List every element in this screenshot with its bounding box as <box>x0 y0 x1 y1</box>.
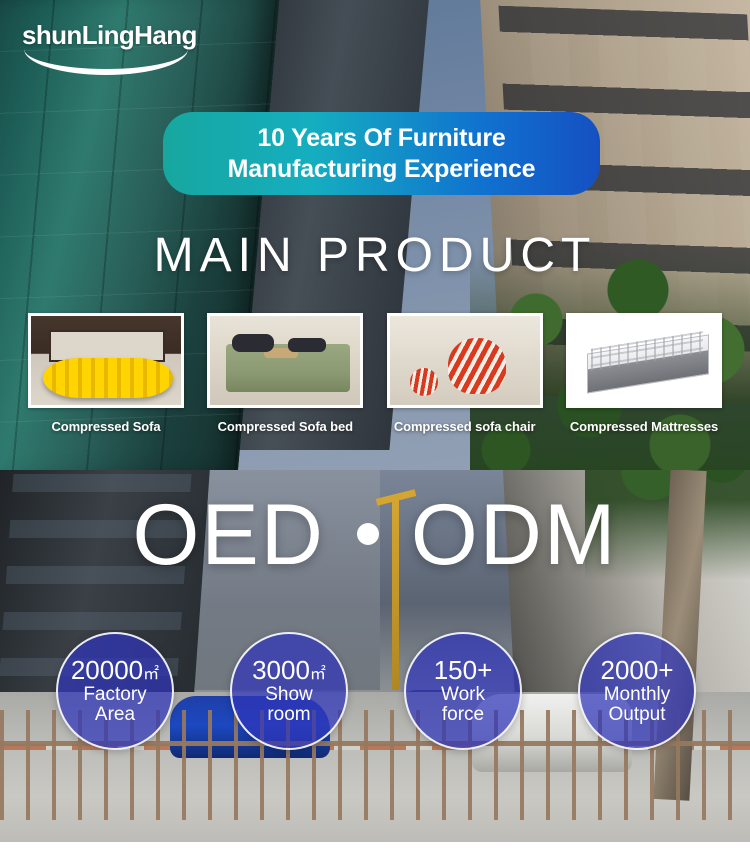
green-sofa-bed-photo <box>210 316 360 405</box>
bottom-white-strip <box>0 842 750 866</box>
company-logo: shunLingHang <box>22 22 222 82</box>
stat-label-line-1: Factory <box>83 685 146 705</box>
stat-label-line-1: Show <box>265 685 313 705</box>
product-card-list: Compressed Sofa Compressed Sofa bed Comp… <box>28 313 722 443</box>
product-card[interactable]: Compressed Sofa <box>28 313 184 443</box>
stat-label-line-1: Monthly <box>604 685 671 705</box>
stat-label-line-2: force <box>442 705 484 725</box>
product-card[interactable]: Compressed Sofa bed <box>207 313 363 443</box>
headline-oed-odm: OEDODM <box>0 492 750 578</box>
stat-value: 20000㎡ <box>71 657 159 684</box>
stat-circle-show-room[interactable]: 3000㎡ Show room <box>230 632 348 750</box>
stat-circle-list: 20000㎡ Factory Area 3000㎡ Show room 150+… <box>56 632 696 750</box>
product-caption: Compressed sofa chair <box>387 419 543 434</box>
product-image-frame <box>566 313 722 408</box>
stat-value: 150+ <box>434 657 493 684</box>
product-image-frame <box>387 313 543 408</box>
banner-line-1: 10 Years Of Furniture <box>257 123 505 154</box>
logo-wordmark: shunLingHang <box>22 22 222 48</box>
stat-unit: ㎡ <box>143 666 159 683</box>
product-caption: Compressed Sofa <box>28 419 184 434</box>
striped-apple-sofa-chair-photo <box>390 316 540 405</box>
stat-number: 20000 <box>71 655 143 685</box>
product-card[interactable]: Compressed sofa chair <box>387 313 543 443</box>
stat-unit: ㎡ <box>310 666 326 683</box>
white-mattress-photo <box>569 316 719 405</box>
stat-number: 150+ <box>434 655 493 685</box>
product-card[interactable]: Compressed Mattresses <box>566 313 722 443</box>
promo-poster: shunLingHang 10 Years Of Furniture Manuf… <box>0 0 750 866</box>
stat-circle-factory-area[interactable]: 20000㎡ Factory Area <box>56 632 174 750</box>
headline-right-text: ODM <box>411 487 618 583</box>
stat-label-line-1: Work <box>441 685 485 705</box>
stat-number: 2000+ <box>600 655 673 685</box>
logo-swoosh-icon <box>24 49 188 75</box>
experience-banner: 10 Years Of Furniture Manufacturing Expe… <box>163 112 600 195</box>
stat-label-line-2: Area <box>95 705 135 725</box>
headline-left-text: OED <box>132 487 324 583</box>
yellow-bubble-sofa-photo <box>31 316 181 405</box>
stat-number: 3000 <box>252 655 310 685</box>
banner-line-2: Manufacturing Experience <box>228 154 536 185</box>
stat-circle-work-force[interactable]: 150+ Work force <box>404 632 522 750</box>
section-title-main-product: MAIN PRODUCT <box>0 232 750 280</box>
stat-label-line-2: Output <box>608 705 665 725</box>
stat-circle-monthly-output[interactable]: 2000+ Monthly Output <box>578 632 696 750</box>
stat-label-line-2: room <box>267 705 310 725</box>
product-image-frame <box>28 313 184 408</box>
product-caption: Compressed Mattresses <box>566 419 722 434</box>
bullet-separator-icon <box>357 523 379 545</box>
product-image-frame <box>207 313 363 408</box>
stat-value: 2000+ <box>600 657 673 684</box>
product-caption: Compressed Sofa bed <box>207 419 363 434</box>
stat-value: 3000㎡ <box>252 657 326 684</box>
